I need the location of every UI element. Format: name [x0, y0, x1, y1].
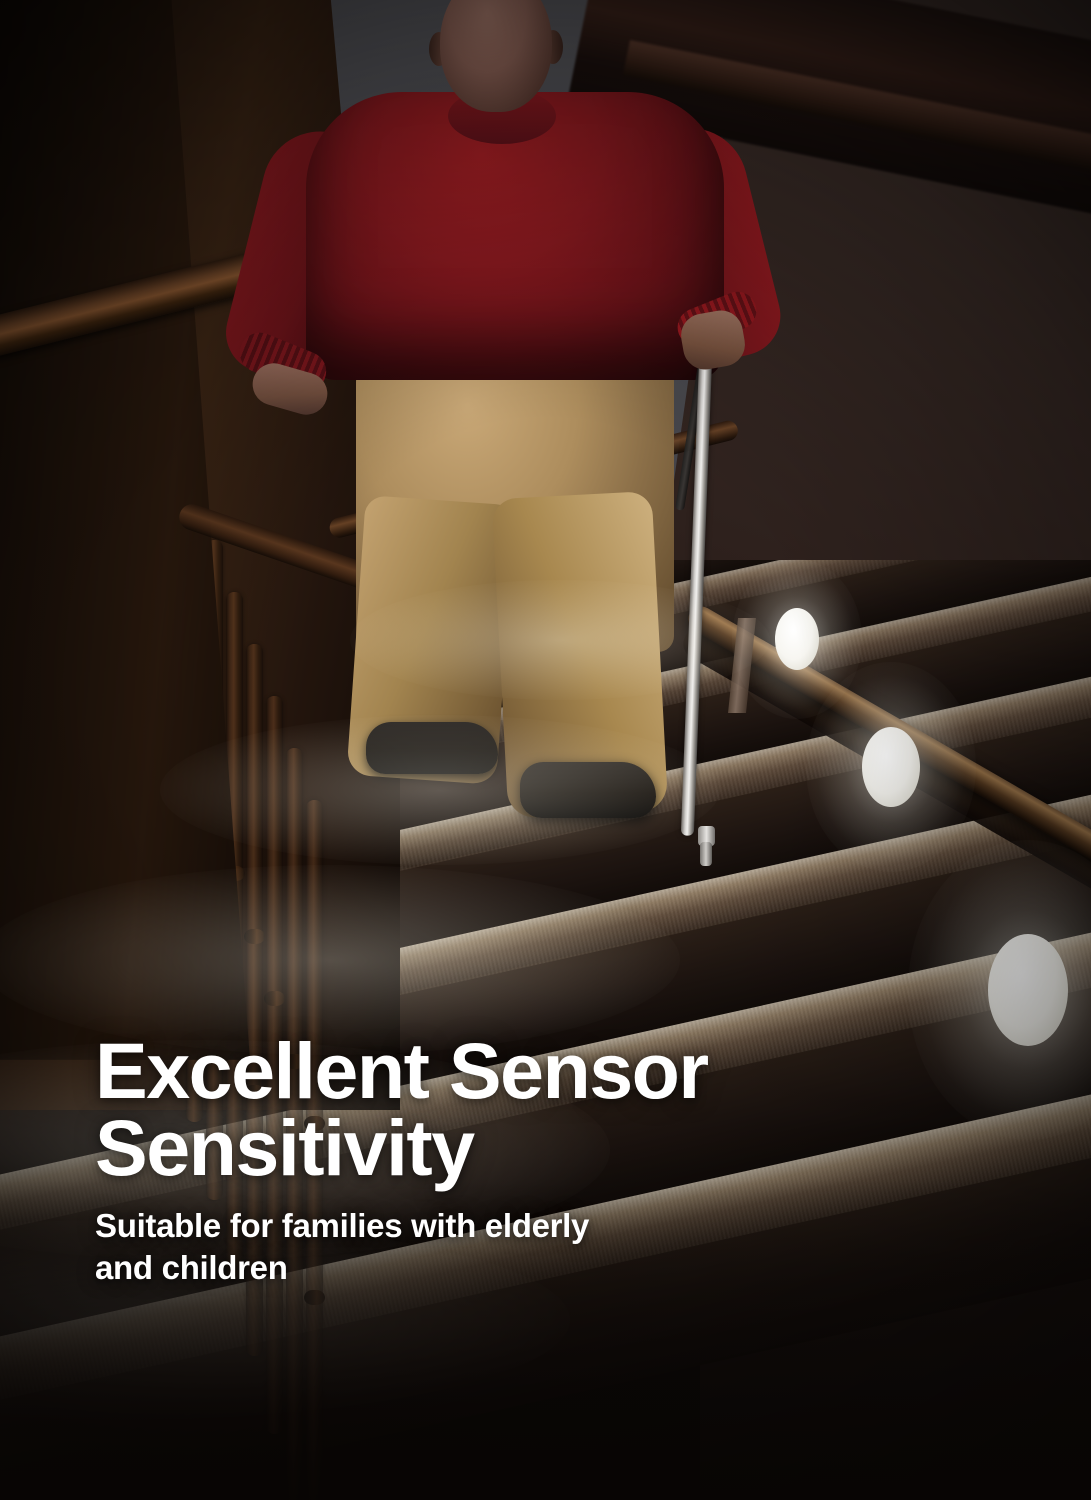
baluster-knob [264, 991, 285, 1006]
wall-light-bottom [988, 934, 1068, 1046]
walking-cane [681, 336, 713, 836]
wall-light-top [775, 608, 819, 670]
baluster-knob [244, 929, 265, 944]
baluster-knob [304, 1290, 325, 1305]
headline: Excellent Sensor Sensitivity [95, 1032, 975, 1187]
shoe-right [520, 762, 656, 818]
cane-tip [700, 842, 712, 866]
marketing-copy: Excellent Sensor Sensitivity Suitable fo… [95, 1032, 975, 1289]
headline-line-1: Excellent Sensor [95, 1026, 708, 1115]
promo-image: Excellent Sensor Sensitivity Suitable fo… [0, 0, 1091, 1500]
subheadline-line-2: and children [95, 1247, 975, 1289]
wall-light-middle [862, 727, 920, 807]
elderly-man [0, 0, 1091, 900]
shoe-left [366, 722, 498, 774]
subheadline: Suitable for families with elderly and c… [95, 1205, 975, 1289]
head [440, 0, 552, 112]
subheadline-line-1: Suitable for families with elderly [95, 1207, 589, 1244]
headline-line-2: Sensitivity [95, 1109, 975, 1186]
